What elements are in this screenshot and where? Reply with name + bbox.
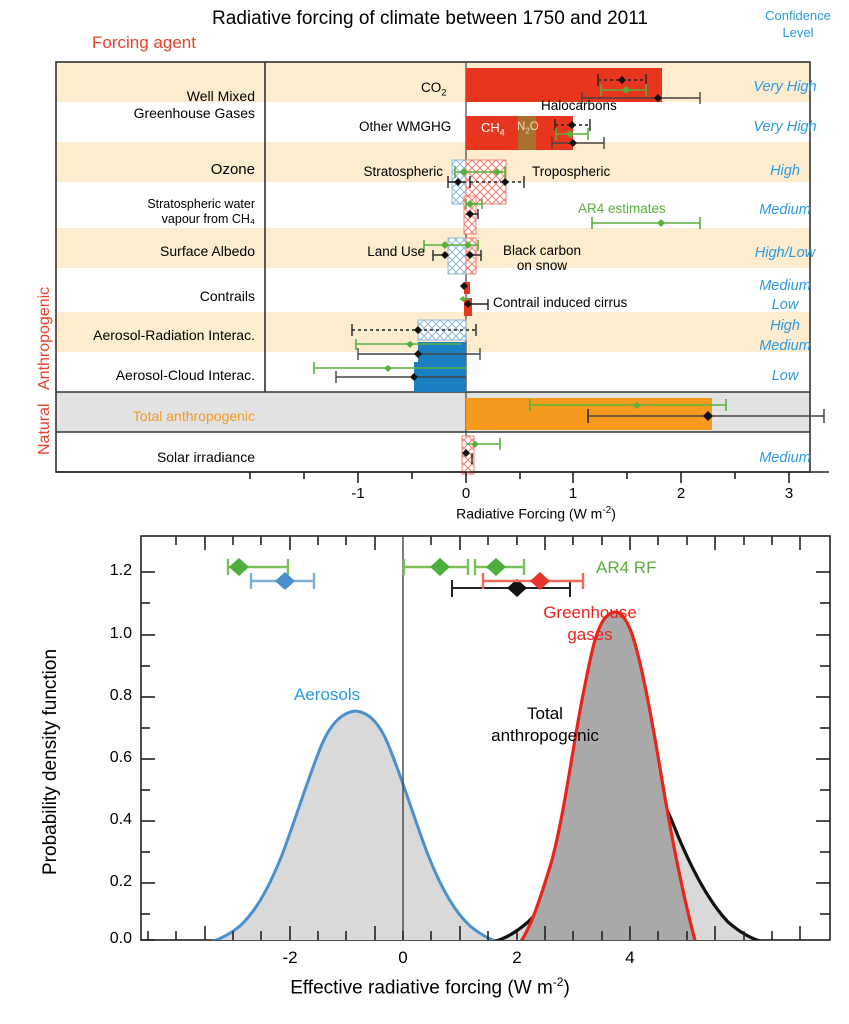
bottom-xaxis-label: Effective radiative forcing (W m-2) [255,975,605,999]
bottom-xaxis-label-sup: -2 [553,975,564,989]
marker-total-ar4 [404,558,468,576]
bottom-x-ticks-top [176,536,800,550]
bottom-yaxis-label: Probability density function [40,649,62,875]
bottom-ytick-1-0: 1.0 [80,625,132,643]
label-greenhouse-line2: gases [500,625,680,645]
label-ar4-rf: AR4 RF [596,558,656,578]
bottom-ytick-0-0: 0.0 [80,930,132,948]
bottom-ytick-0-2: 0.2 [80,873,132,891]
label-aerosols: Aerosols [294,685,360,705]
bottom-xaxis-label-tail: ) [563,977,569,998]
bottom-xaxis-label-text: Effective radiative forcing (W m [290,977,553,998]
bottom-ytick-0-8: 0.8 [80,687,132,705]
bottom-ytick-0-4: 0.4 [80,811,132,829]
bottom-panel-plot [0,0,849,1024]
bottom-xtick-0: 0 [383,948,423,968]
bottom-xtick--2: -2 [270,948,310,968]
pdf-curves [196,612,828,944]
bottom-y-ticks [141,572,830,940]
bottom-xtick-2: 2 [497,948,537,968]
label-total-line2: anthropogenic [455,726,635,746]
bottom-xtick-4: 4 [610,948,650,968]
marker-aerosols-ar5 [251,572,314,590]
label-greenhouse-line1: Greenhouse [500,603,680,623]
pdf-ghg-overlap [519,612,696,944]
figure-radiative-forcing: Radiative forcing of climate between 175… [0,0,849,1024]
label-total-line1: Total [455,704,635,724]
bottom-ytick-0-6: 0.6 [80,749,132,767]
bottom-ytick-1-2: 1.2 [80,562,132,580]
marker-aerosols-ar4 [228,558,288,576]
